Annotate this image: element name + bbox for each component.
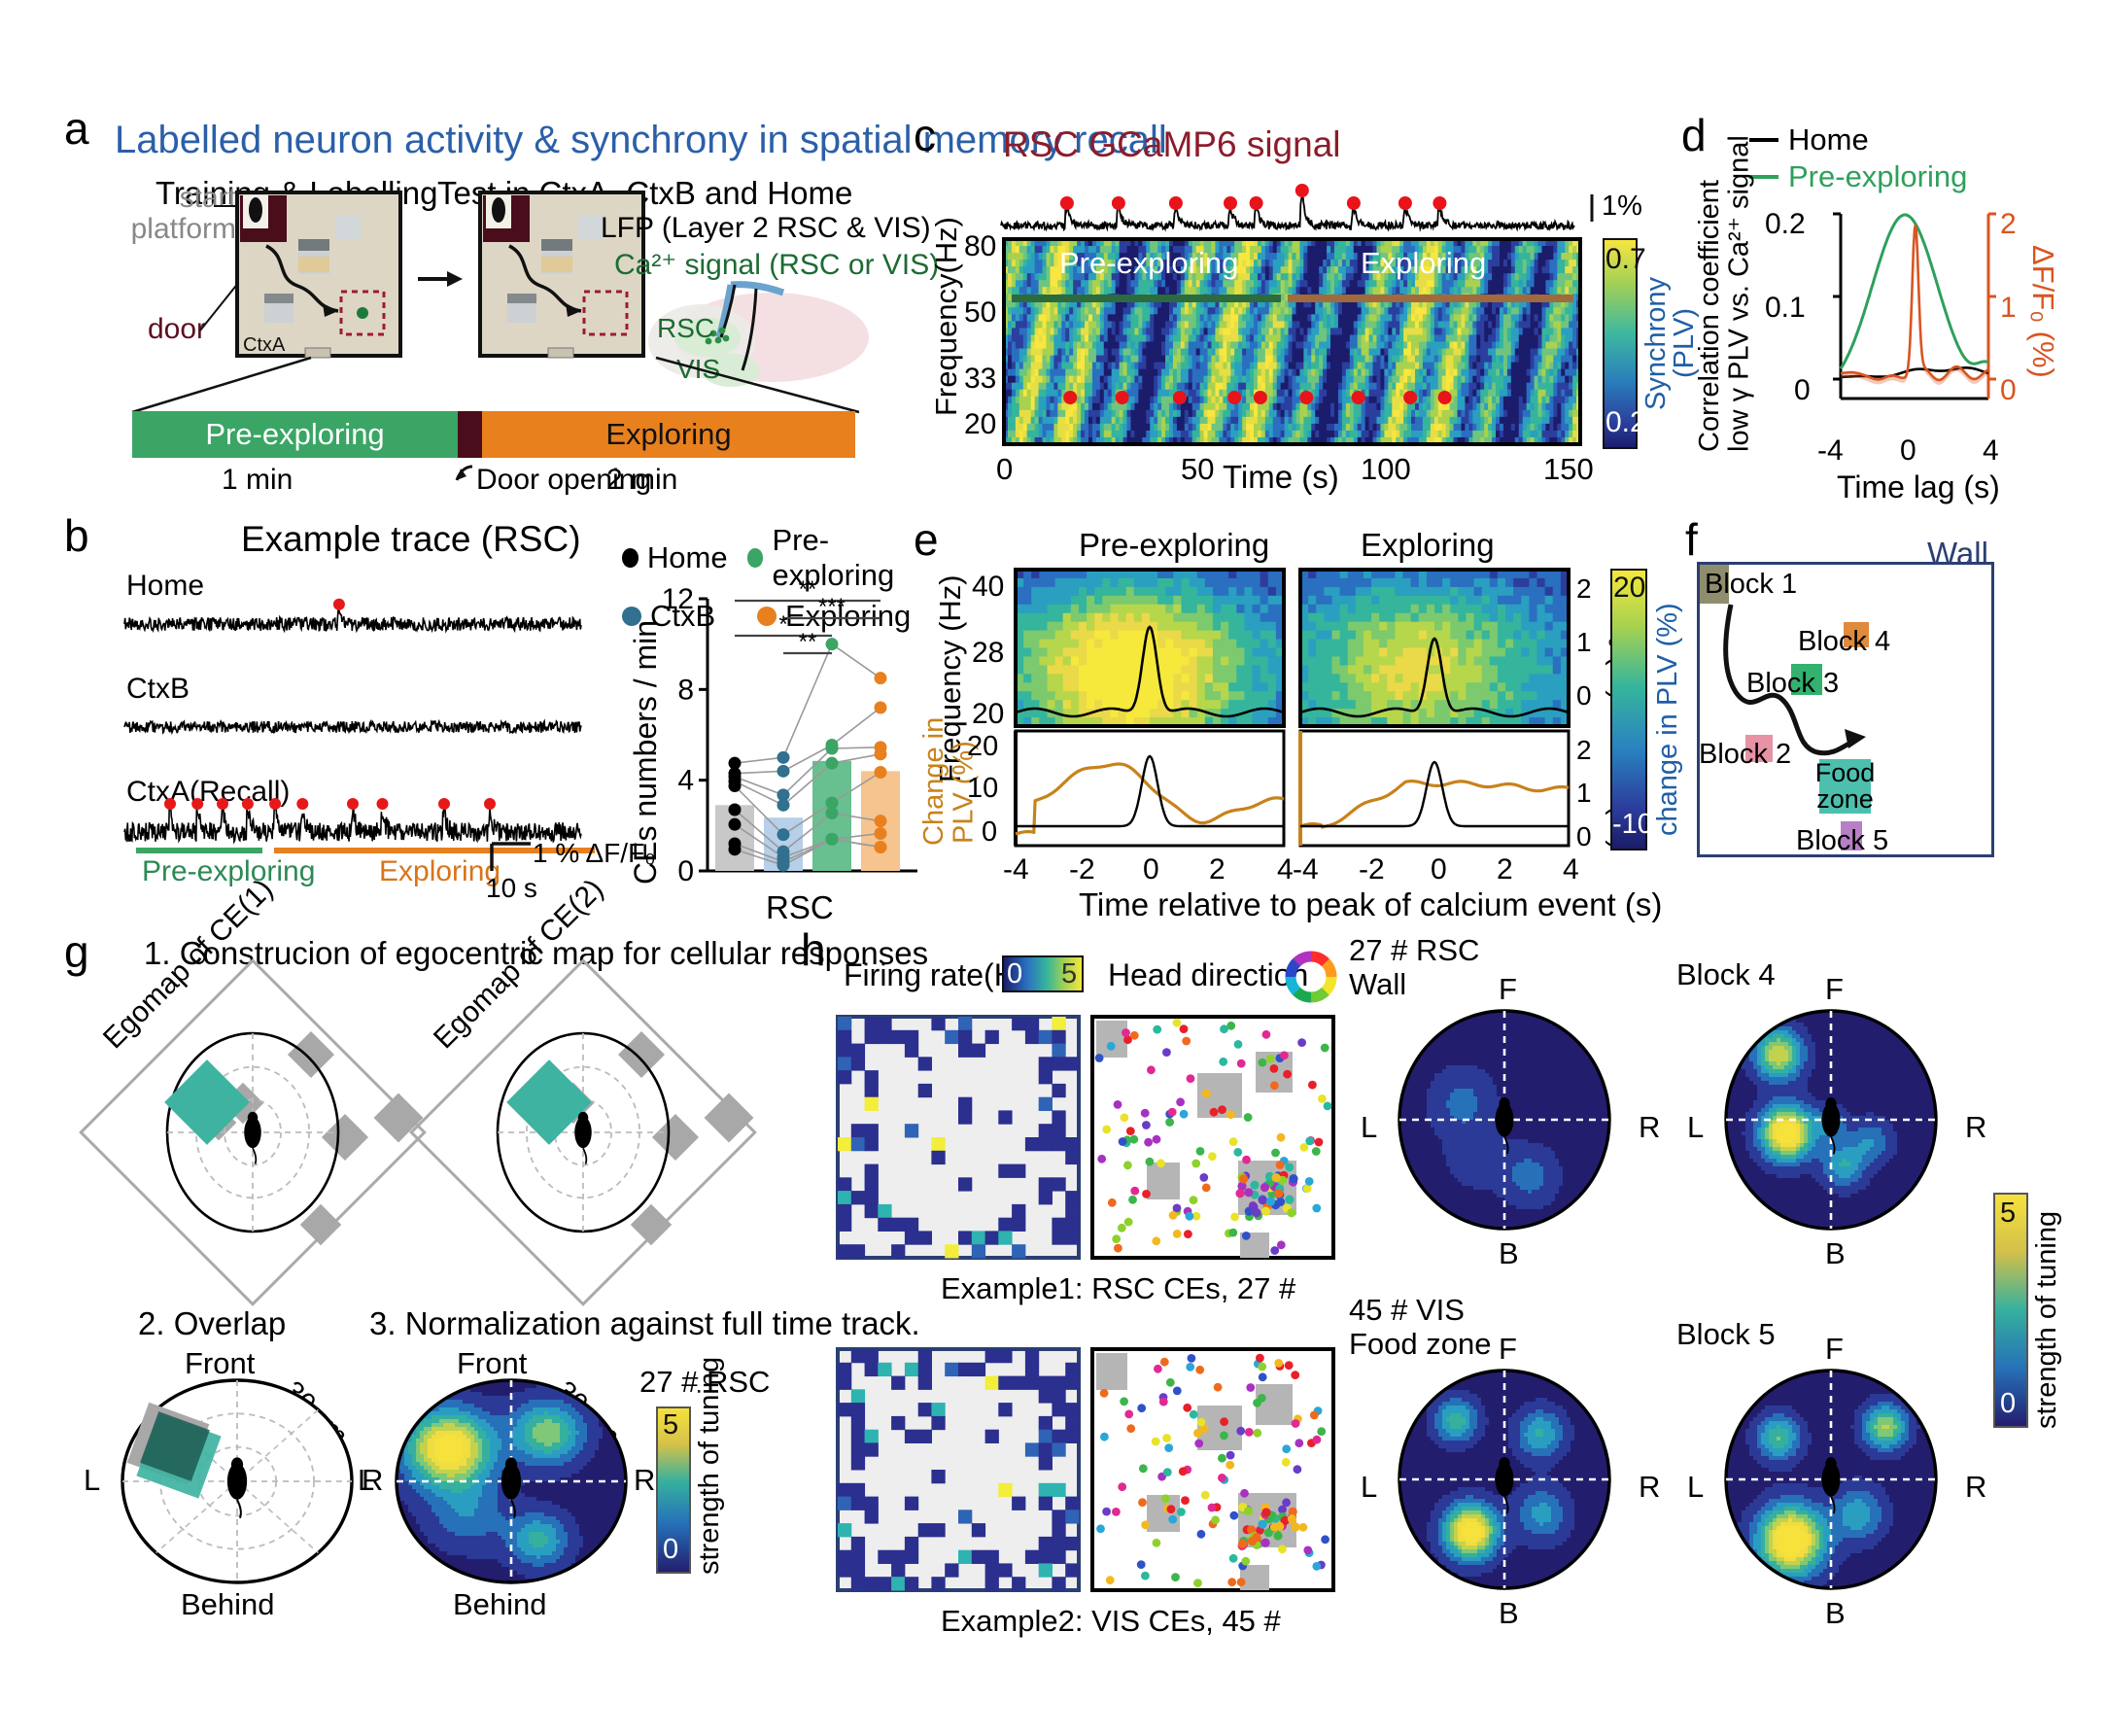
panel-d-letter: d: [1681, 109, 1707, 161]
firing-rate-max: 5: [1061, 958, 1077, 990]
panel-d-ytick-right-2: 2: [2000, 208, 2017, 241]
timeline-leader-lines: [126, 356, 865, 414]
svg-text:*: *: [778, 611, 787, 638]
panel-g-step2: 2. Overlap: [138, 1305, 286, 1342]
timeline-door-segment: [458, 411, 482, 458]
panel-e-plv-exp: [1300, 731, 1572, 850]
polar2-left-label: L: [1687, 1110, 1704, 1145]
panel-g-step3: 3. Normalization against full time track…: [369, 1305, 920, 1342]
panel-e-ytick-b-20: 20: [967, 731, 998, 763]
panel-b-title: Example trace (RSC): [241, 519, 581, 560]
spectrogram-xtick-0: 0: [996, 452, 1013, 487]
polar-heatmap-block4: [1712, 1009, 1955, 1234]
ces-chart-xlabel: RSC: [766, 889, 834, 926]
panel-c-title: RSC GCaMP6 signal: [1003, 124, 1341, 165]
head-direction-label: Head direction: [1108, 957, 1308, 993]
panel-e-ytick-br-1: 1: [1576, 778, 1592, 809]
polar-heatmap-block5: [1712, 1369, 1955, 1594]
panel-e-ytick-40: 40: [972, 571, 1004, 604]
timeline-exp-segment: Exploring: [482, 411, 855, 458]
polar3-front-label: F: [1499, 1332, 1517, 1367]
correlation-plot: [1827, 209, 2002, 433]
trace-phase-pre-label: Pre-exploring: [142, 855, 315, 888]
svg-text:CtxA: CtxA: [243, 334, 286, 356]
overlap-left-label: L: [84, 1463, 100, 1498]
polar1-front-label: F: [1499, 972, 1517, 1007]
rate-map-example2: [838, 1349, 1083, 1594]
spectrogram-ylabel: Frequency(Hz): [929, 241, 964, 416]
head-direction-wheel-icon: [1285, 951, 1337, 1003]
panel-d-ytick-0: 0: [1794, 374, 1811, 407]
polar3-left-label: L: [1361, 1470, 1377, 1505]
panel-e-ytick-right-2: 2: [1576, 573, 1592, 605]
polar1-left-label: L: [1361, 1110, 1377, 1145]
polar2-front-label: F: [1825, 972, 1844, 1007]
arrow-right-icon: [416, 264, 466, 294]
panel-d-ytick-01: 0.1: [1765, 292, 1806, 325]
panel-d-xtick-m4: -4: [1817, 434, 1844, 468]
panel-g-letter: g: [64, 925, 89, 978]
polar4-zone: Block 5: [1676, 1317, 1776, 1352]
rate-map-example1: [838, 1017, 1083, 1262]
ces-chart-ylabel: CEs numbers / min: [628, 583, 664, 885]
polar1-behind-label: B: [1499, 1236, 1519, 1271]
arena-path-arrow: [1697, 562, 1988, 851]
panel-d-xlabel: Time lag (s): [1837, 469, 2000, 505]
legend-label-d-pre-exploring: Pre-exploring: [1788, 159, 1967, 194]
gcamp-trace-plot: [1001, 177, 1584, 245]
plv-colorbar-max: 0.7: [1605, 243, 1646, 276]
overlap-front-label: Front: [185, 1346, 255, 1381]
svg-text:8: 8: [677, 674, 694, 706]
panel-e-xtick1-1: -2: [1069, 853, 1095, 886]
plv-colorbar-min: 0.2: [1605, 406, 1646, 439]
panel-e-ytick-right-1: 1: [1576, 627, 1592, 658]
normalized-egomap-plot: [383, 1378, 645, 1587]
legend-label-home: Home: [647, 540, 728, 575]
panel-d-ylabel-left: Correlation coefficient low γ PLV vs. Ca…: [1695, 209, 1754, 452]
panel-e-ytick-right-0: 0: [1576, 680, 1592, 712]
spectrogram-xtick-100: 100: [1361, 452, 1411, 487]
spectrogram-ytick-50: 50: [964, 296, 996, 330]
brain-rsc-label: RSC: [657, 313, 714, 343]
overlap-polar-plot: [109, 1378, 371, 1587]
spectrogram-xtick-50: 50: [1181, 452, 1214, 487]
firing-rate-min: 0: [1007, 958, 1022, 990]
polar4-right-label: R: [1965, 1470, 1986, 1505]
scale-x-label: 10 s: [486, 873, 537, 904]
polar1-right-label: R: [1639, 1110, 1660, 1145]
panel-d-ytick-right-0: 0: [2000, 374, 2017, 407]
plv-colorbar-label: Synchrony (PLV): [1642, 251, 1699, 435]
panel-e-colorbar: [1611, 570, 1646, 850]
panel-e-xtick1-2: 0: [1143, 853, 1159, 886]
panel-e-xtick1-4: 4: [1277, 853, 1294, 886]
panel-e-ytick-20: 20: [972, 698, 1004, 731]
panel-h-colorbar-max: 5: [2000, 1198, 2016, 1230]
panel-e-subtitle-pre: Pre-exploring: [1079, 527, 1269, 564]
polar-heatmap-wall: [1386, 1009, 1629, 1234]
panel-g-colorbar-max: 5: [663, 1409, 678, 1441]
panel-g-colorbar-min: 0: [663, 1534, 678, 1566]
timeline-exp-duration: 2 min: [606, 464, 677, 497]
polar4-behind-label: B: [1825, 1596, 1846, 1631]
spectrogram-phase-exp-label: Exploring: [1361, 246, 1486, 281]
polar4-front-label: F: [1825, 1332, 1844, 1367]
panel-c-letter: c: [914, 109, 936, 161]
legend-dot-pre-exploring: [747, 548, 764, 568]
panel-h-colorbar-label: strength of tuning: [2031, 1196, 2063, 1429]
timeline-pre-duration: 1 min: [222, 464, 293, 497]
panel-e-xtick1-3: 2: [1209, 853, 1226, 886]
polar3-behind-label: B: [1499, 1596, 1519, 1631]
spectrogram-ytick-20: 20: [964, 408, 996, 441]
spectrogram-ytick-80: 80: [964, 230, 996, 263]
ces-numbers-bar-chart: ********12840: [667, 579, 919, 900]
panel-e-xtick2-0: -4: [1293, 853, 1319, 886]
polar3-id: 45 # VIS: [1349, 1293, 1465, 1328]
spectrogram-ytick-33: 33: [964, 363, 996, 396]
panel-f-letter: f: [1685, 513, 1698, 566]
panel-e-ytick-br-2: 2: [1576, 735, 1592, 766]
head-direction-map-example2: [1092, 1349, 1337, 1594]
panel-e-colorbar-max: 20: [1613, 572, 1645, 605]
polar3-right-label: R: [1639, 1470, 1660, 1505]
svg-text:12: 12: [662, 583, 694, 615]
panel-g-colorbar-label: strength of tuning: [694, 1409, 726, 1575]
polar3-zone: Food zone: [1349, 1327, 1492, 1362]
panel-e-colorbar-label: change in PLV (%): [1652, 593, 1684, 836]
panel-d-legend: Home Pre-exploring: [1749, 122, 1967, 194]
panel-e-spectro-exp: [1300, 570, 1572, 730]
legend-label-d-home: Home: [1788, 122, 1869, 157]
spectrogram-phase-pre-label: Pre-exploring: [1059, 246, 1238, 281]
panel-d-ytick-02: 0.2: [1765, 208, 1806, 241]
arena-photo-training: CtxA: [237, 192, 400, 356]
polar1-zone: Wall: [1349, 967, 1406, 1002]
panel-e-xtick2-4: 4: [1563, 853, 1579, 886]
example1-caption: Example1: RSC CEs, 27 #: [941, 1271, 1295, 1306]
panel-b-letter: b: [64, 509, 89, 562]
svg-text:0: 0: [677, 855, 694, 887]
panel-e-xtick1-0: -4: [1003, 853, 1029, 886]
panel-d-xtick-4: 4: [1983, 434, 1999, 468]
panel-e-ytick-28: 28: [972, 637, 1004, 670]
polar2-zone: Block 4: [1676, 957, 1776, 992]
panel-e-subtitle-exp: Exploring: [1361, 527, 1495, 564]
panel-e-ytick-br-0: 0: [1576, 821, 1592, 852]
timeline-pre-segment: Pre-exploring: [132, 411, 458, 458]
panel-e-colorbar-min: -10: [1612, 809, 1653, 841]
svg-text:**: **: [799, 576, 817, 603]
panel-e-letter: e: [914, 513, 939, 566]
spectrogram-xtick-150: 150: [1543, 452, 1594, 487]
timeline-bar: Pre-exploring Exploring: [132, 411, 855, 458]
polar1-id: 27 # RSC: [1349, 933, 1479, 968]
polar2-right-label: R: [1965, 1110, 1986, 1145]
lfp-label: LFP (Layer 2 RSC & VIS): [601, 212, 931, 245]
polar-heatmap-foodzone: [1386, 1369, 1629, 1594]
overlap-behind-label: Behind: [181, 1587, 275, 1622]
svg-text:***: ***: [818, 594, 846, 620]
norm-left-label: L: [358, 1463, 374, 1498]
panel-e-xtick2-3: 2: [1497, 853, 1513, 886]
svg-text:4: 4: [677, 765, 694, 797]
head-direction-map-example1: [1092, 1017, 1337, 1262]
panel-e-spectro-pre: [1016, 570, 1288, 730]
panel-h-letter: h: [801, 923, 826, 976]
polar2-behind-label: B: [1825, 1236, 1846, 1271]
panel-e-xlabel: Time relative to peak of calcium event (…: [1079, 886, 1662, 923]
spectrogram-xlabel: Time (s): [1223, 459, 1339, 496]
norm-front-label: Front: [457, 1346, 527, 1381]
svg-text:**: **: [799, 629, 817, 655]
norm-behind-label: Behind: [453, 1587, 547, 1622]
panel-d-ytick-right-1: 1: [2000, 292, 2017, 325]
panel-e-plv-pre: [1016, 731, 1288, 850]
legend-dot-home: [622, 548, 639, 568]
polar4-left-label: L: [1687, 1470, 1704, 1505]
panel-e-ytick-b-10: 10: [967, 773, 998, 805]
example-traces-plot: [124, 595, 610, 848]
trace-phase-pre-bar: [136, 848, 262, 853]
example2-caption: Example2: VIS CEs, 45 #: [941, 1604, 1281, 1639]
panel-h-colorbar-min: 0: [2000, 1388, 2016, 1420]
panel-e-ytick-b-0: 0: [982, 816, 997, 849]
gcamp-scale-label: 1%: [1602, 191, 1642, 223]
trace-phase-exp-label: Exploring: [379, 855, 501, 888]
panel-d-xtick-0: 0: [1900, 434, 1916, 468]
panel-d-ylabel-right: ΔF/F₀ (%): [2025, 245, 2060, 420]
panel-a-letter: a: [64, 102, 89, 155]
panel-e-xtick2-1: -2: [1359, 853, 1385, 886]
panel-e-xtick2-2: 0: [1431, 853, 1447, 886]
